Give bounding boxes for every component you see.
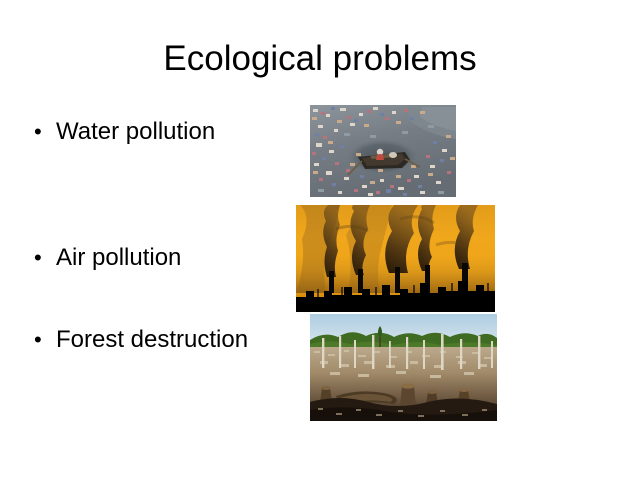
bullet-item-air-pollution: • Air pollution (34, 244, 181, 272)
slide-canvas: Ecological problems • Water pollution • … (0, 0, 640, 480)
water-pollution-photo (310, 105, 456, 197)
bullet-label-air-pollution: Air pollution (56, 244, 181, 272)
bullet-label-forest-destruction: Forest destruction (56, 326, 248, 354)
bullet-item-water-pollution: • Water pollution (34, 118, 215, 146)
bullet-dot-icon: • (34, 118, 56, 146)
bullet-label-water-pollution: Water pollution (56, 118, 215, 146)
forest-destruction-photo (310, 314, 497, 421)
bullet-dot-icon: • (34, 244, 56, 272)
air-pollution-photo (296, 205, 495, 312)
bullet-item-forest-destruction: • Forest destruction (34, 326, 248, 354)
bullet-dot-icon: • (34, 326, 56, 354)
page-title: Ecological problems (0, 38, 640, 80)
